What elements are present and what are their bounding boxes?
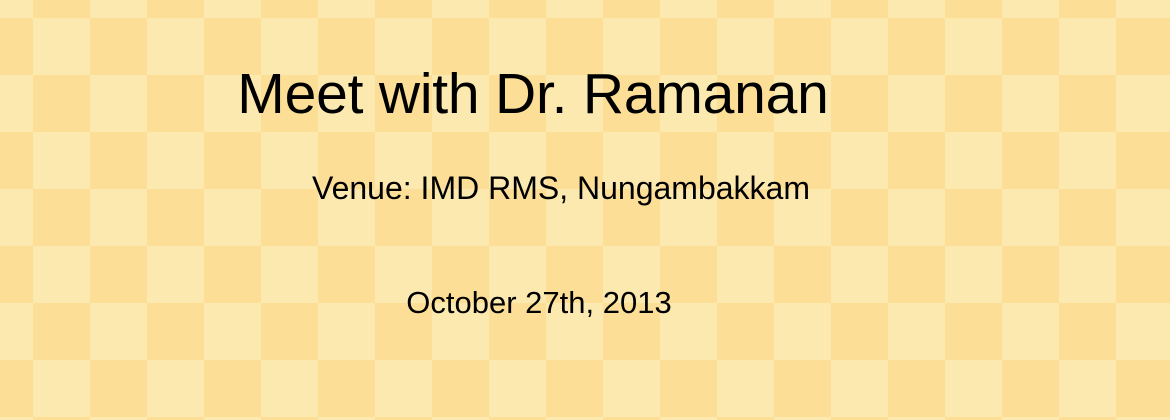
slide-date-line: October 27th, 2013 <box>0 287 1124 318</box>
slide-venue-line: Venue: IMD RMS, Nungambakkam <box>0 172 1146 204</box>
presentation-slide: Meet with Dr. Ramanan Venue: IMD RMS, Nu… <box>0 0 1170 420</box>
slide-content: Meet with Dr. Ramanan Venue: IMD RMS, Nu… <box>0 0 1170 420</box>
slide-title: Meet with Dr. Ramanan <box>0 66 1118 123</box>
